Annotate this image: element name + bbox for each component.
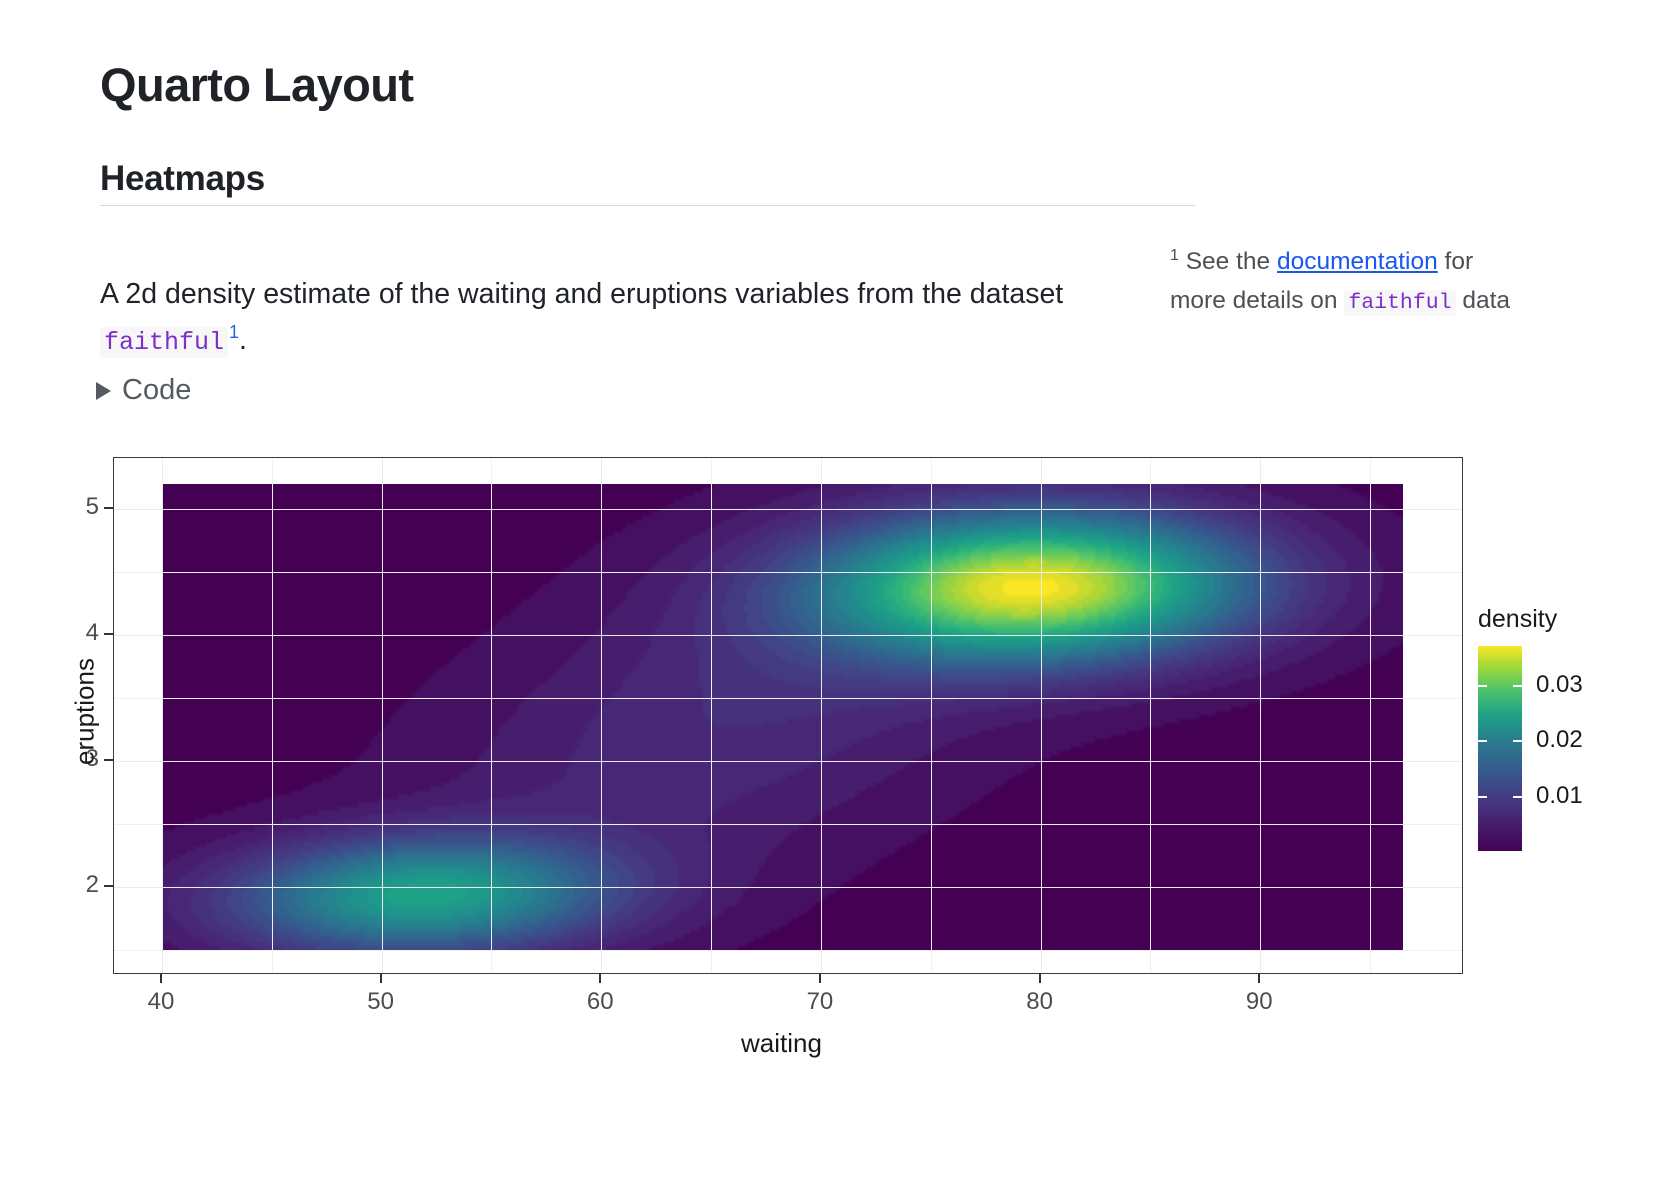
quarto-page: Quarto Layout Heatmaps A 2d density esti…: [0, 0, 1660, 1200]
grid-line-vertical: [931, 458, 932, 973]
y-tick-mark: [104, 759, 113, 761]
grid-line-vertical: [272, 458, 273, 973]
footnote-reference[interactable]: 1: [229, 322, 239, 342]
legend-tick-mark: [1513, 685, 1522, 687]
x-tick-label: 40: [121, 988, 201, 1016]
grid-line-vertical: [711, 458, 712, 973]
x-tick-mark: [819, 974, 821, 983]
legend-tick-label: 0.03: [1536, 671, 1583, 699]
grid-line-vertical: [491, 458, 492, 973]
inline-code-faithful-note: faithful: [1344, 290, 1455, 316]
x-tick-mark: [380, 974, 382, 983]
inline-code-faithful: faithful: [100, 327, 228, 358]
grid-line-vertical: [601, 458, 602, 973]
code-disclosure-toggle[interactable]: Code: [96, 374, 191, 407]
grid-line-vertical: [1260, 458, 1261, 973]
footnote-text-end: data: [1456, 287, 1511, 314]
legend-title: density: [1478, 605, 1648, 634]
legend-tick-mark: [1478, 685, 1487, 687]
grid-line-vertical: [382, 458, 383, 973]
code-toggle-label: Code: [122, 374, 191, 407]
x-tick-label: 80: [1000, 988, 1080, 1016]
x-tick-label: 90: [1219, 988, 1299, 1016]
legend: density 0.010.020.03: [1478, 605, 1648, 851]
paragraph-text-before-code: A 2d density estimate of the waiting and…: [100, 278, 1063, 310]
figure-heatmap: 2345 405060708090 eruptions waiting dens…: [0, 440, 1660, 1060]
x-tick-label: 60: [560, 988, 640, 1016]
body-paragraph: A 2d density estimate of the waiting and…: [100, 271, 1110, 364]
paragraph-text-after-code: .: [239, 324, 247, 356]
y-tick-mark: [104, 633, 113, 635]
y-axis-label: eruptions: [70, 631, 101, 791]
documentation-link[interactable]: documentation: [1277, 248, 1438, 275]
grid-line-vertical: [162, 458, 163, 973]
legend-tick-label: 0.01: [1536, 782, 1583, 810]
grid-line-vertical: [1370, 458, 1371, 973]
heading-divider: [100, 205, 1195, 206]
page-title: Quarto Layout: [100, 59, 413, 111]
plot-panel: [113, 457, 1463, 974]
legend-tick-mark: [1478, 740, 1487, 742]
heatmap-raster: [162, 484, 1403, 950]
y-tick-mark: [104, 507, 113, 509]
x-tick-label: 50: [341, 988, 421, 1016]
legend-tick-mark: [1478, 796, 1487, 798]
x-tick-mark: [160, 974, 162, 983]
y-tick-label: 2: [86, 871, 99, 899]
triangle-right-icon: [96, 382, 111, 400]
x-tick-mark: [1258, 974, 1260, 983]
section-heading: Heatmaps: [100, 160, 265, 199]
margin-footnote: 1 See the documentation for more details…: [1170, 243, 1530, 321]
legend-tick-label: 0.02: [1536, 726, 1583, 754]
footnote-text-before-link: See the: [1179, 248, 1277, 275]
legend-colorbar: 0.010.020.03: [1478, 646, 1522, 851]
y-tick-mark: [104, 885, 113, 887]
legend-tick-mark: [1513, 796, 1522, 798]
x-tick-label: 70: [780, 988, 860, 1016]
x-tick-mark: [599, 974, 601, 983]
legend-tick-mark: [1513, 740, 1522, 742]
grid-line-vertical: [821, 458, 822, 973]
y-tick-label: 5: [86, 493, 99, 521]
x-axis-label: waiting: [632, 1028, 932, 1059]
x-tick-mark: [1039, 974, 1041, 983]
grid-line-vertical: [1150, 458, 1151, 973]
footnote-marker: 1: [1170, 247, 1179, 264]
grid-line-vertical: [1041, 458, 1042, 973]
